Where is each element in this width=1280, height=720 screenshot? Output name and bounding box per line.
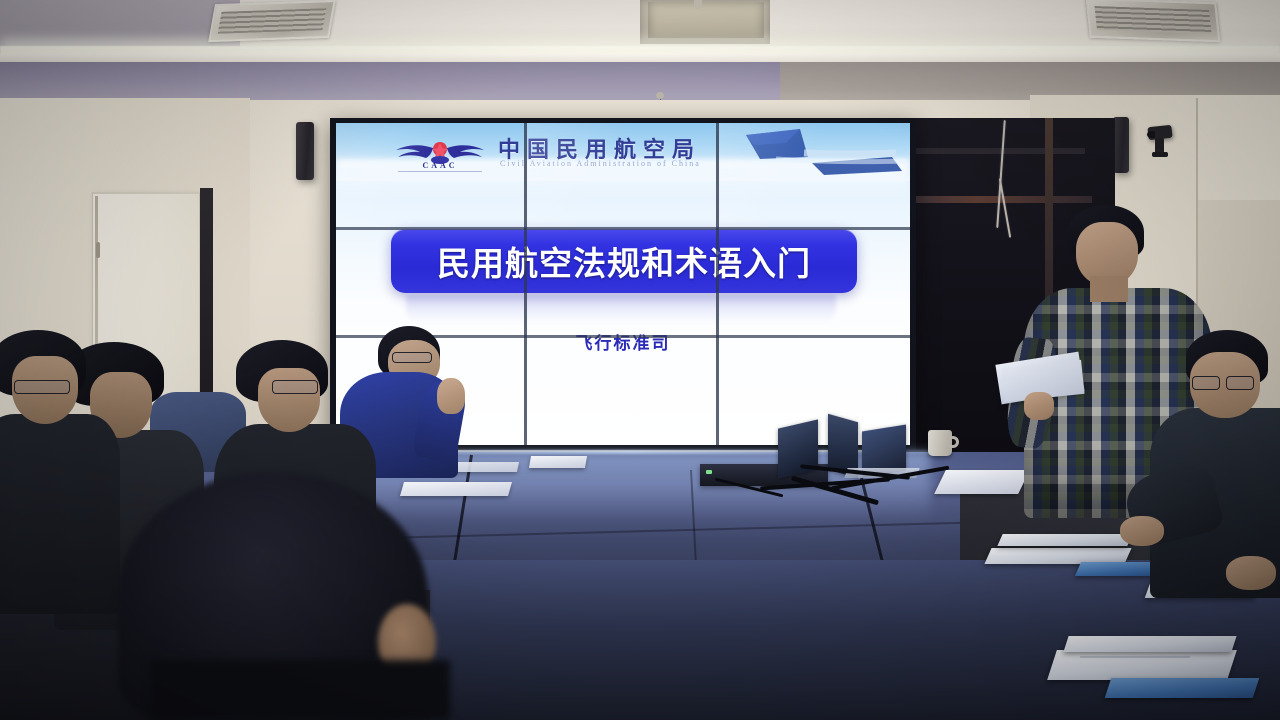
laptop-screen-left[interactable] <box>778 419 818 478</box>
book-stack-right[interactable] <box>997 534 1132 546</box>
wall-speaker-left-icon <box>296 122 314 180</box>
door-handle[interactable] <box>96 242 100 258</box>
book-blue-front[interactable] <box>1105 678 1259 698</box>
attendee-left-3-glasses <box>272 380 318 394</box>
ceiling-light-panel <box>648 2 764 38</box>
wall-speaker-right-icon <box>1113 117 1129 173</box>
paper-center[interactable] <box>529 456 587 468</box>
attendee-right-hand <box>1120 516 1164 546</box>
attendee-right-glasses-right <box>1226 376 1254 390</box>
camera-lens-icon <box>1147 131 1155 138</box>
organization-name-en: Civil Aviation Administration of China <box>500 159 701 168</box>
ceiling-dome-icon <box>656 92 664 99</box>
standing-speaker-hand <box>1024 392 1054 420</box>
attendee-right-glasses-left <box>1192 376 1220 390</box>
airplane-graphic-icon <box>716 123 906 185</box>
standing-speaker-neck <box>1090 276 1128 302</box>
attendee-left-3-face <box>258 368 320 432</box>
attendee-right-hand-2 <box>1226 556 1276 590</box>
camera-arm <box>1152 152 1168 157</box>
attendee-left-1-glasses <box>14 380 70 394</box>
device-status-light <box>706 470 712 474</box>
book-stack-front[interactable] <box>1047 650 1237 680</box>
window-frame-top <box>905 148 1085 154</box>
presenter-glasses <box>392 352 432 363</box>
ac-vent-right-icon <box>1086 0 1221 42</box>
bezel-vertical-1 <box>524 123 527 445</box>
bezel-horizontal-1 <box>336 227 910 230</box>
door-jamb <box>200 188 213 420</box>
presenter-hand <box>437 378 465 414</box>
paper-left[interactable] <box>400 482 512 496</box>
bezel-vertical-2 <box>716 123 719 445</box>
ac-vent-left-icon <box>208 0 336 42</box>
slide-title-plate: 民用航空法规和术语入门 <box>391 229 857 293</box>
book-stack-front[interactable] <box>1063 636 1236 652</box>
caac-logo-text: CAAC <box>396 161 484 170</box>
slide-title: 民用航空法规和术语入门 <box>437 237 811 285</box>
foreground-neck <box>150 660 450 720</box>
book-text-line <box>1080 656 1191 658</box>
title-plate-reflection <box>406 295 836 323</box>
caac-underline <box>398 171 482 172</box>
attendee-left-1-body <box>0 414 120 614</box>
document-papers[interactable] <box>934 470 1030 494</box>
room-scene: CAAC 中国民用航空局 Civil Aviation Administrati… <box>0 0 1280 720</box>
ceiling-sensor-icon <box>694 0 702 9</box>
